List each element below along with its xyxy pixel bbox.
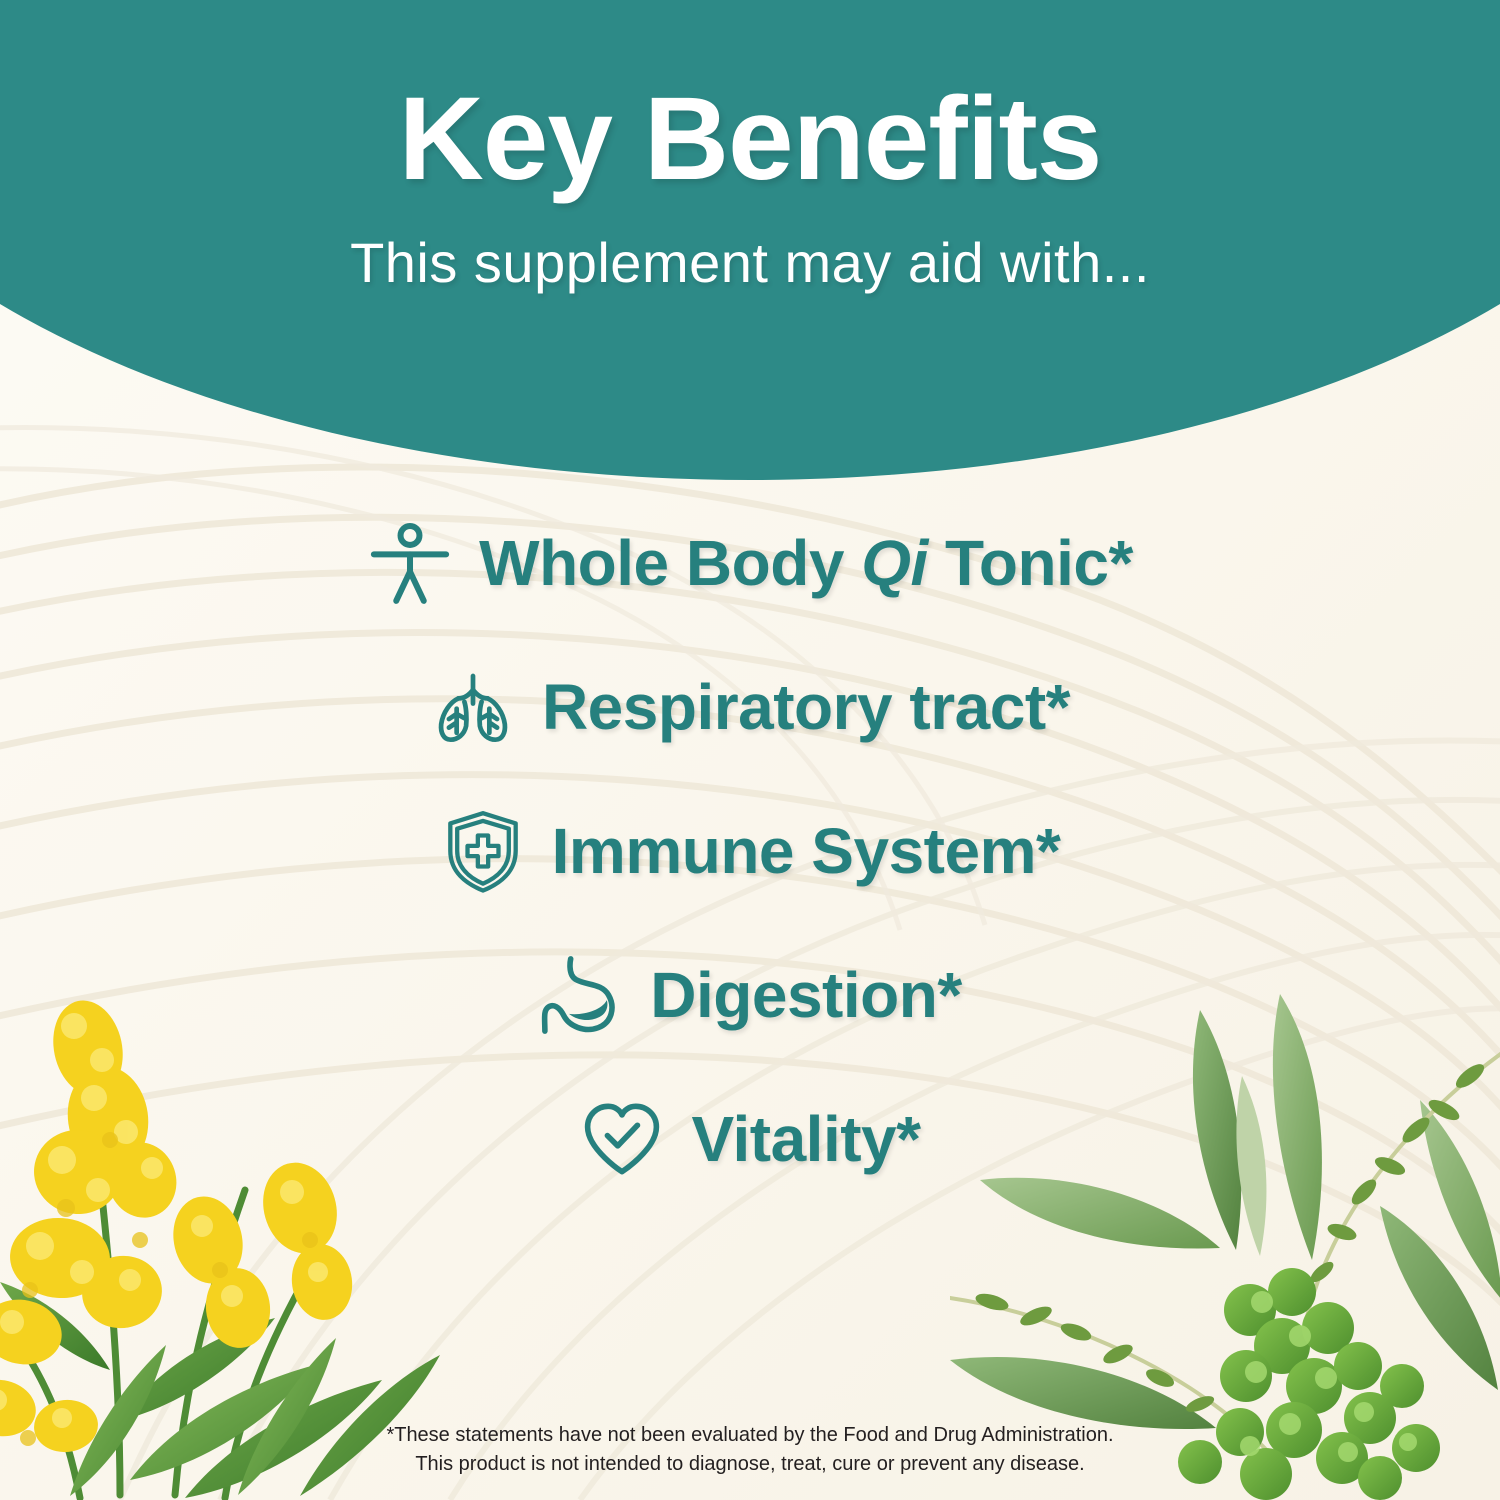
- benefit-label-prefix: Whole Body: [479, 527, 861, 599]
- person-icon: [367, 520, 453, 606]
- benefit-label: Whole Body Qi Tonic*: [479, 526, 1133, 600]
- benefit-item-whole-body-qi-tonic: Whole Body Qi Tonic*: [367, 520, 1133, 606]
- benefit-label: Digestion*: [650, 958, 961, 1032]
- benefit-item-immune-system: Immune System*: [440, 808, 1061, 894]
- benefit-label: Respiratory tract*: [542, 670, 1070, 744]
- header-curved-background: [0, 0, 1500, 480]
- benefit-label-suffix: Tonic*: [928, 527, 1133, 599]
- benefit-label: Immune System*: [552, 814, 1061, 888]
- heart-check-icon: [579, 1096, 665, 1182]
- benefit-item-respiratory-tract: Respiratory tract*: [430, 664, 1070, 750]
- disclaimer-line-1: *These statements have not been evaluate…: [0, 1421, 1500, 1449]
- benefit-item-vitality: Vitality*: [579, 1096, 920, 1182]
- shield-cross-icon: [440, 808, 526, 894]
- benefits-list: Whole Body Qi Tonic* Respiratory tract*: [0, 520, 1500, 1182]
- disclaimer-line-2: This product is not intended to diagnose…: [0, 1450, 1500, 1478]
- stomach-icon: [538, 952, 624, 1038]
- fda-disclaimer: *These statements have not been evaluate…: [0, 1421, 1500, 1478]
- page-subtitle: This supplement may aid with...: [350, 230, 1150, 295]
- benefit-label: Vitality*: [691, 1102, 920, 1176]
- key-benefits-poster: Key Benefits This supplement may aid wit…: [0, 0, 1500, 1500]
- benefit-label-emphasis: Qi: [861, 527, 928, 599]
- lungs-icon: [430, 664, 516, 750]
- benefit-item-digestion: Digestion*: [538, 952, 961, 1038]
- page-title: Key Benefits: [399, 78, 1102, 202]
